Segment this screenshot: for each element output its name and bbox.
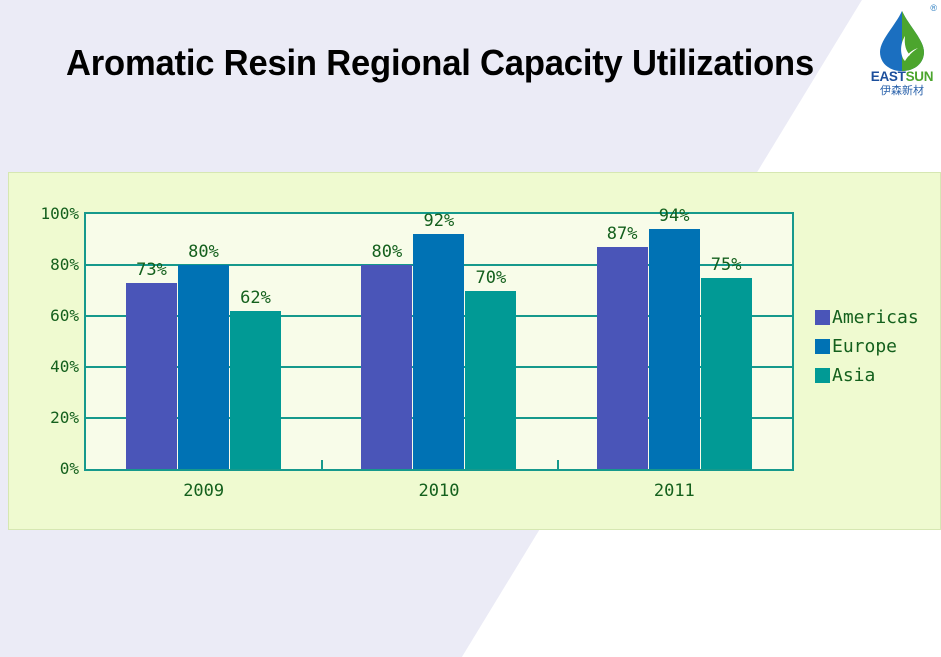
bar-asia-2011 — [701, 278, 752, 469]
legend-item-americas[interactable]: Americas — [815, 303, 919, 332]
x-axis-category-label-2009: 2009 — [86, 483, 321, 500]
legend-label: Americas — [832, 309, 919, 327]
legend-label: Europe — [832, 338, 897, 356]
bar-value-label: 70% — [451, 270, 530, 287]
water-drop-icon — [874, 10, 930, 77]
legend-swatch-icon — [815, 368, 830, 383]
bar-value-label: 80% — [164, 244, 243, 261]
slide-canvas: Aromatic Resin Regional Capacity Utiliza… — [0, 0, 941, 657]
bar-americas-2010 — [361, 265, 412, 469]
y-axis-tick-label: 60% — [17, 308, 79, 324]
legend-label: Asia — [832, 367, 875, 385]
y-axis-tick-label: 0% — [17, 461, 79, 477]
logo-chinese-name: 伊森新材 — [866, 85, 938, 97]
legend-swatch-icon — [815, 310, 830, 325]
y-axis-tick-label: 40% — [17, 359, 79, 375]
legend-item-asia[interactable]: Asia — [815, 361, 919, 390]
logo-wordmark-east: EAST — [871, 69, 906, 84]
bar-value-label: 75% — [687, 257, 766, 274]
bar-asia-2010 — [465, 291, 516, 470]
x-axis-separator-tick — [321, 460, 323, 469]
bar-asia-2009 — [230, 311, 281, 469]
bar-value-label: 62% — [216, 290, 295, 307]
logo-wordmark-sun: SUN — [906, 69, 934, 84]
legend-swatch-icon — [815, 339, 830, 354]
eastsun-logo: ® EASTSUN 伊森新材 — [866, 4, 938, 104]
registered-trademark-icon: ® — [930, 4, 937, 13]
bar-value-label: 92% — [399, 213, 478, 230]
chart-panel: 0%20%40%60%80%100% 73%80%62%80%92%70%87%… — [8, 172, 941, 530]
bar-americas-2009 — [126, 283, 177, 469]
y-axis-tick-label: 80% — [17, 257, 79, 273]
bar-americas-2011 — [597, 247, 648, 469]
bar-value-label: 94% — [635, 208, 714, 225]
x-axis-category-label-2011: 2011 — [557, 483, 792, 500]
y-axis-tick-label: 20% — [17, 410, 79, 426]
x-axis-separator-tick — [557, 460, 559, 469]
x-axis-category-label-2010: 2010 — [321, 483, 556, 500]
y-axis-tick-label: 100% — [17, 206, 79, 222]
logo-wordmark: EASTSUN — [866, 70, 938, 84]
page-title: Aromatic Resin Regional Capacity Utiliza… — [66, 42, 814, 84]
y-axis-labels: 0%20%40%60%80%100% — [9, 173, 79, 529]
chart-legend: AmericasEuropeAsia — [815, 303, 919, 390]
plot-area: 73%80%62%80%92%70%87%94%75% — [84, 212, 794, 471]
legend-item-europe[interactable]: Europe — [815, 332, 919, 361]
